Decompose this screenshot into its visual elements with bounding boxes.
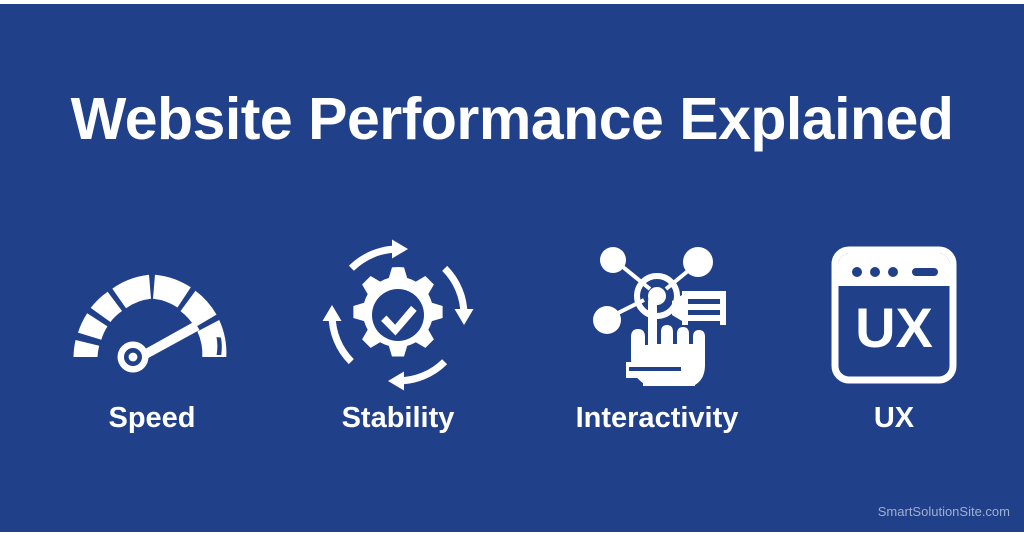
- feature-label-interactivity: Interactivity: [576, 404, 739, 433]
- infographic-canvas: Website Performance Explained: [0, 0, 1024, 536]
- browser-window-ux-icon: UX: [830, 240, 958, 390]
- feature-item-ux: UX UX: [804, 240, 984, 433]
- feature-list: Speed: [40, 240, 984, 433]
- feature-item-speed: Speed: [40, 240, 264, 433]
- feature-label-stability: Stability: [342, 404, 455, 433]
- feature-label-speed: Speed: [108, 404, 195, 433]
- watermark: SmartSolutionSite.com: [878, 505, 1010, 518]
- feature-label-ux: UX: [874, 404, 914, 433]
- infographic-stage: Website Performance Explained: [0, 4, 1024, 532]
- feature-item-stability: Stability: [286, 240, 510, 433]
- ux-icon-text: UX: [855, 296, 933, 359]
- gear-check-cycle-icon: [322, 240, 474, 390]
- page-title: Website Performance Explained: [0, 90, 1024, 149]
- feature-item-interactivity: Interactivity: [532, 240, 782, 433]
- speedometer-gauge-icon: [66, 240, 238, 390]
- hand-tap-network-icon: [588, 240, 726, 390]
